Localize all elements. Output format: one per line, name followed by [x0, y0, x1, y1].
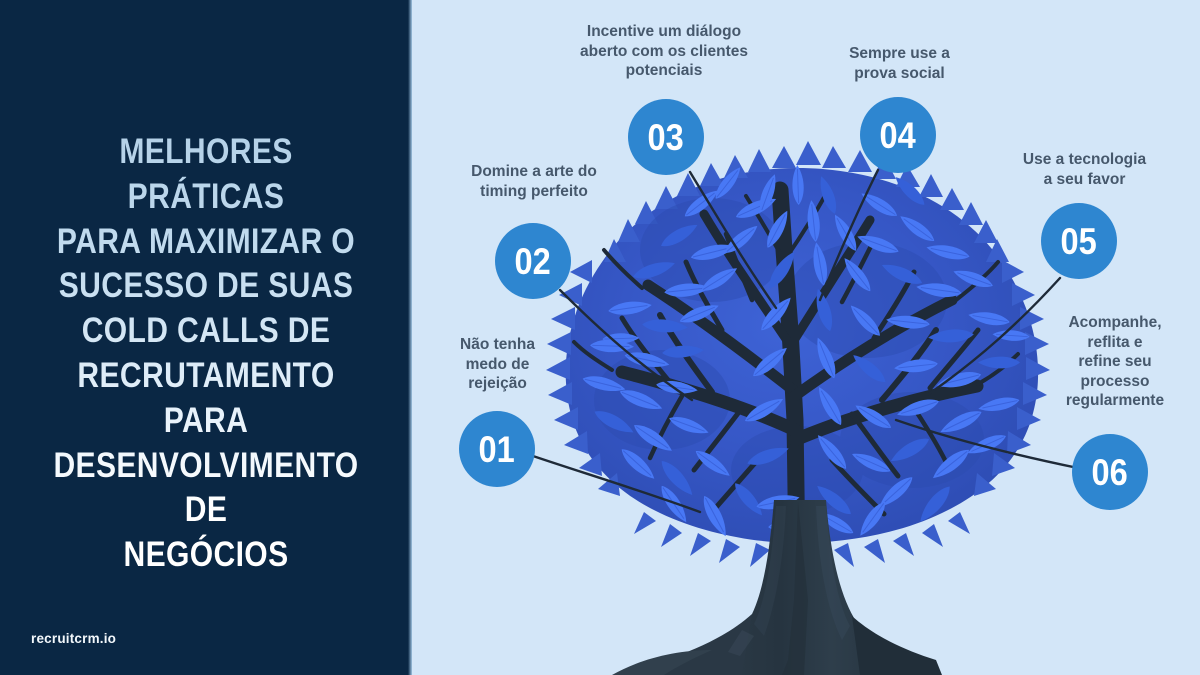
step-number-04: 04 [880, 117, 916, 154]
step-label-05: Use a tecnologia a seu favor [992, 150, 1177, 189]
step-label-06: Acompanhe, reflita e refine seu processo… [1040, 313, 1190, 411]
step-number-01: 01 [479, 431, 515, 468]
step-circle-02[interactable]: 02 [495, 223, 571, 299]
step-label-04: Sempre use a prova social [822, 44, 977, 83]
step-circle-03[interactable]: 03 [628, 99, 704, 175]
step-number-06: 06 [1092, 454, 1128, 491]
step-circle-05[interactable]: 05 [1041, 203, 1117, 279]
left-title-panel: MELHORES PRÁTICAS PARA MAXIMIZAR O SUCES… [0, 0, 412, 675]
step-circle-01[interactable]: 01 [459, 411, 535, 487]
step-label-02: Domine a arte do timing perfeito [443, 162, 625, 201]
step-label-01: Não tenha medo de rejeição [430, 335, 565, 394]
step-circle-04[interactable]: 04 [860, 97, 936, 173]
infographic-canvas: MELHORES PRÁTICAS PARA MAXIMIZAR O SUCES… [0, 0, 1200, 675]
step-label-03: Incentive um diálogo aberto com os clien… [558, 22, 770, 81]
step-number-05: 05 [1061, 223, 1097, 260]
step-number-03: 03 [648, 119, 684, 156]
step-number-02: 02 [515, 243, 551, 280]
step-circle-06[interactable]: 06 [1072, 434, 1148, 510]
page-title: MELHORES PRÁTICAS PARA MAXIMIZAR O SUCES… [41, 130, 371, 578]
brand-logo-text: recruitcrm.io [31, 631, 116, 646]
panel-divider [408, 0, 412, 675]
